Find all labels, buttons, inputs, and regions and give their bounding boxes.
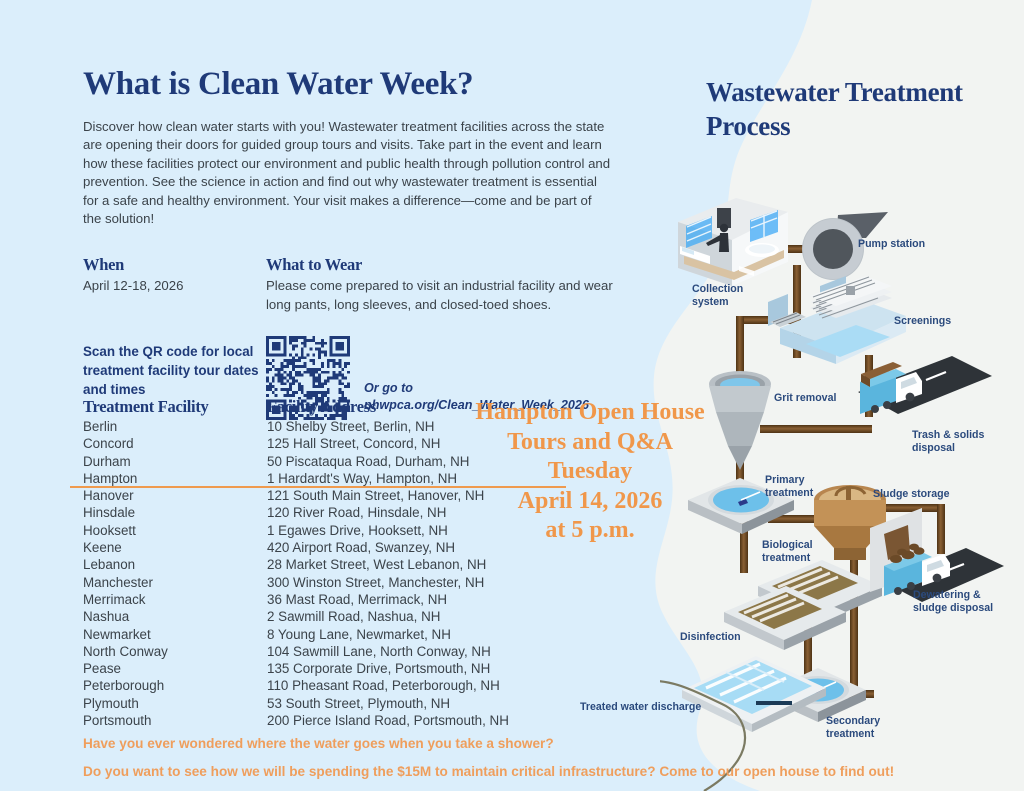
when-block: When April 12-18, 2026 (83, 254, 266, 314)
table-row: North Conway104 Sawmill Lane, North Conw… (83, 643, 553, 660)
facility-name: Hooksett (83, 522, 267, 539)
table-row: Lebanon28 Market Street, West Lebanon, N… (83, 556, 553, 573)
table-row: Peterborough110 Pheasant Road, Peterboro… (83, 677, 553, 694)
table-row: Pease135 Corporate Drive, Portsmouth, NH (83, 660, 553, 677)
facility-address: 135 Corporate Drive, Portsmouth, NH (267, 660, 553, 677)
bottom-question-1: Have you ever wondered where the water g… (83, 730, 894, 758)
facility-address: 2 Sawmill Road, Nashua, NH (267, 608, 553, 625)
what-to-wear-value: Please come prepared to visit an industr… (266, 277, 628, 314)
diagram-label-biological-treatment: Biological treatment (762, 539, 848, 564)
facility-name: Pease (83, 660, 267, 677)
facility-name: Manchester (83, 574, 267, 591)
open-house-line: at 5 p.m. (455, 516, 725, 546)
screenings-icon (768, 276, 906, 364)
diagram-label-dewatering-sludge: Dewatering & sludge disposal (913, 589, 999, 614)
open-house-line: Hampton Open House (455, 398, 725, 428)
facility-name: Lebanon (83, 556, 267, 573)
open-house-line: April 14, 2026 (455, 487, 725, 517)
biological-treatment-icon (724, 560, 882, 650)
facility-name: Merrimack (83, 591, 267, 608)
table-row: Portsmouth200 Pierce Island Road, Portsm… (83, 712, 553, 729)
facility-name: Berlin (83, 418, 267, 435)
facility-name: Portsmouth (83, 712, 267, 729)
facility-name: Plymouth (83, 695, 267, 712)
table-row: Plymouth53 South Street, Plymouth, NH (83, 695, 553, 712)
facility-address: 200 Pierce Island Road, Portsmouth, NH (267, 712, 553, 729)
facility-address: 36 Mast Road, Merrimack, NH (267, 591, 553, 608)
table-row: Newmarket8 Young Lane, Newmarket, NH (83, 626, 553, 643)
facility-name: Hinsdale (83, 504, 267, 521)
facility-name: Peterborough (83, 677, 267, 694)
facility-address: 110 Pheasant Road, Peterborough, NH (267, 677, 553, 694)
intro-paragraph: Discover how clean water starts with you… (83, 118, 611, 228)
table-row: Nashua2 Sawmill Road, Nashua, NH (83, 608, 553, 625)
when-heading: When (83, 254, 266, 275)
facility-name: Durham (83, 453, 267, 470)
bottom-question-2: Do you want to see how we will be spendi… (83, 758, 894, 786)
facility-address: 28 Market Street, West Lebanon, NH (267, 556, 553, 573)
or-go-to-label: Or go to (364, 380, 589, 397)
bottom-questions: Have you ever wondered where the water g… (83, 730, 894, 786)
info-row: When April 12-18, 2026 What to Wear Plea… (83, 254, 628, 314)
diagram-label-collection-system: Collection system (692, 283, 778, 308)
table-row: Merrimack36 Mast Road, Merrimack, NH (83, 591, 553, 608)
wastewater-treatment-diagram: Wastewater Treatment Process (660, 0, 1024, 791)
page-title: What is Clean Water Week? (83, 64, 628, 104)
facility-name: Concord (83, 435, 267, 452)
open-house-callout: Hampton Open HouseTours and Q&ATuesdayAp… (455, 398, 725, 546)
facility-name: Hanover (83, 487, 267, 504)
when-value: April 12-18, 2026 (83, 277, 266, 295)
diagram-label-primary-treatment: Primary treatment (765, 474, 851, 499)
diagram-label-trash-solids: Trash & solids disposal (912, 429, 998, 454)
facility-name: Nashua (83, 608, 267, 625)
facility-address: 53 South Street, Plymouth, NH (267, 695, 553, 712)
table-row: Manchester300 Winston Street, Manchester… (83, 574, 553, 591)
facility-name: Newmarket (83, 626, 267, 643)
diagram-label-screenings: Screenings (894, 315, 951, 328)
facility-address: 104 Sawmill Lane, North Conway, NH (267, 643, 553, 660)
diagram-label-grit-removal: Grit removal (774, 392, 836, 405)
collection-system-icon (678, 198, 788, 286)
column-header-facility: Treatment Facility (83, 396, 267, 418)
left-content-column: What is Clean Water Week? Discover how c… (83, 64, 628, 420)
what-to-wear-block: What to Wear Please come prepared to vis… (266, 254, 628, 314)
diagram-label-treated-water-discharge: Treated water discharge (580, 701, 701, 714)
facility-name: North Conway (83, 643, 267, 660)
trash-solids-disposal-icon (858, 356, 992, 414)
diagram-label-pump-station: Pump station (858, 238, 925, 251)
facility-address: 300 Winston Street, Manchester, NH (267, 574, 553, 591)
open-house-line: Tuesday (455, 457, 725, 487)
diagram-label-disinfection: Disinfection (680, 631, 741, 644)
facility-name: Keene (83, 539, 267, 556)
facility-name: Hampton (83, 470, 267, 487)
diagram-label-sludge-storage: Sludge storage (873, 488, 950, 501)
open-house-line: Tours and Q&A (455, 428, 725, 458)
facility-address: 8 Young Lane, Newmarket, NH (267, 626, 553, 643)
diagram-title: Wastewater Treatment Process (706, 75, 1006, 143)
what-to-wear-heading: What to Wear (266, 254, 628, 275)
